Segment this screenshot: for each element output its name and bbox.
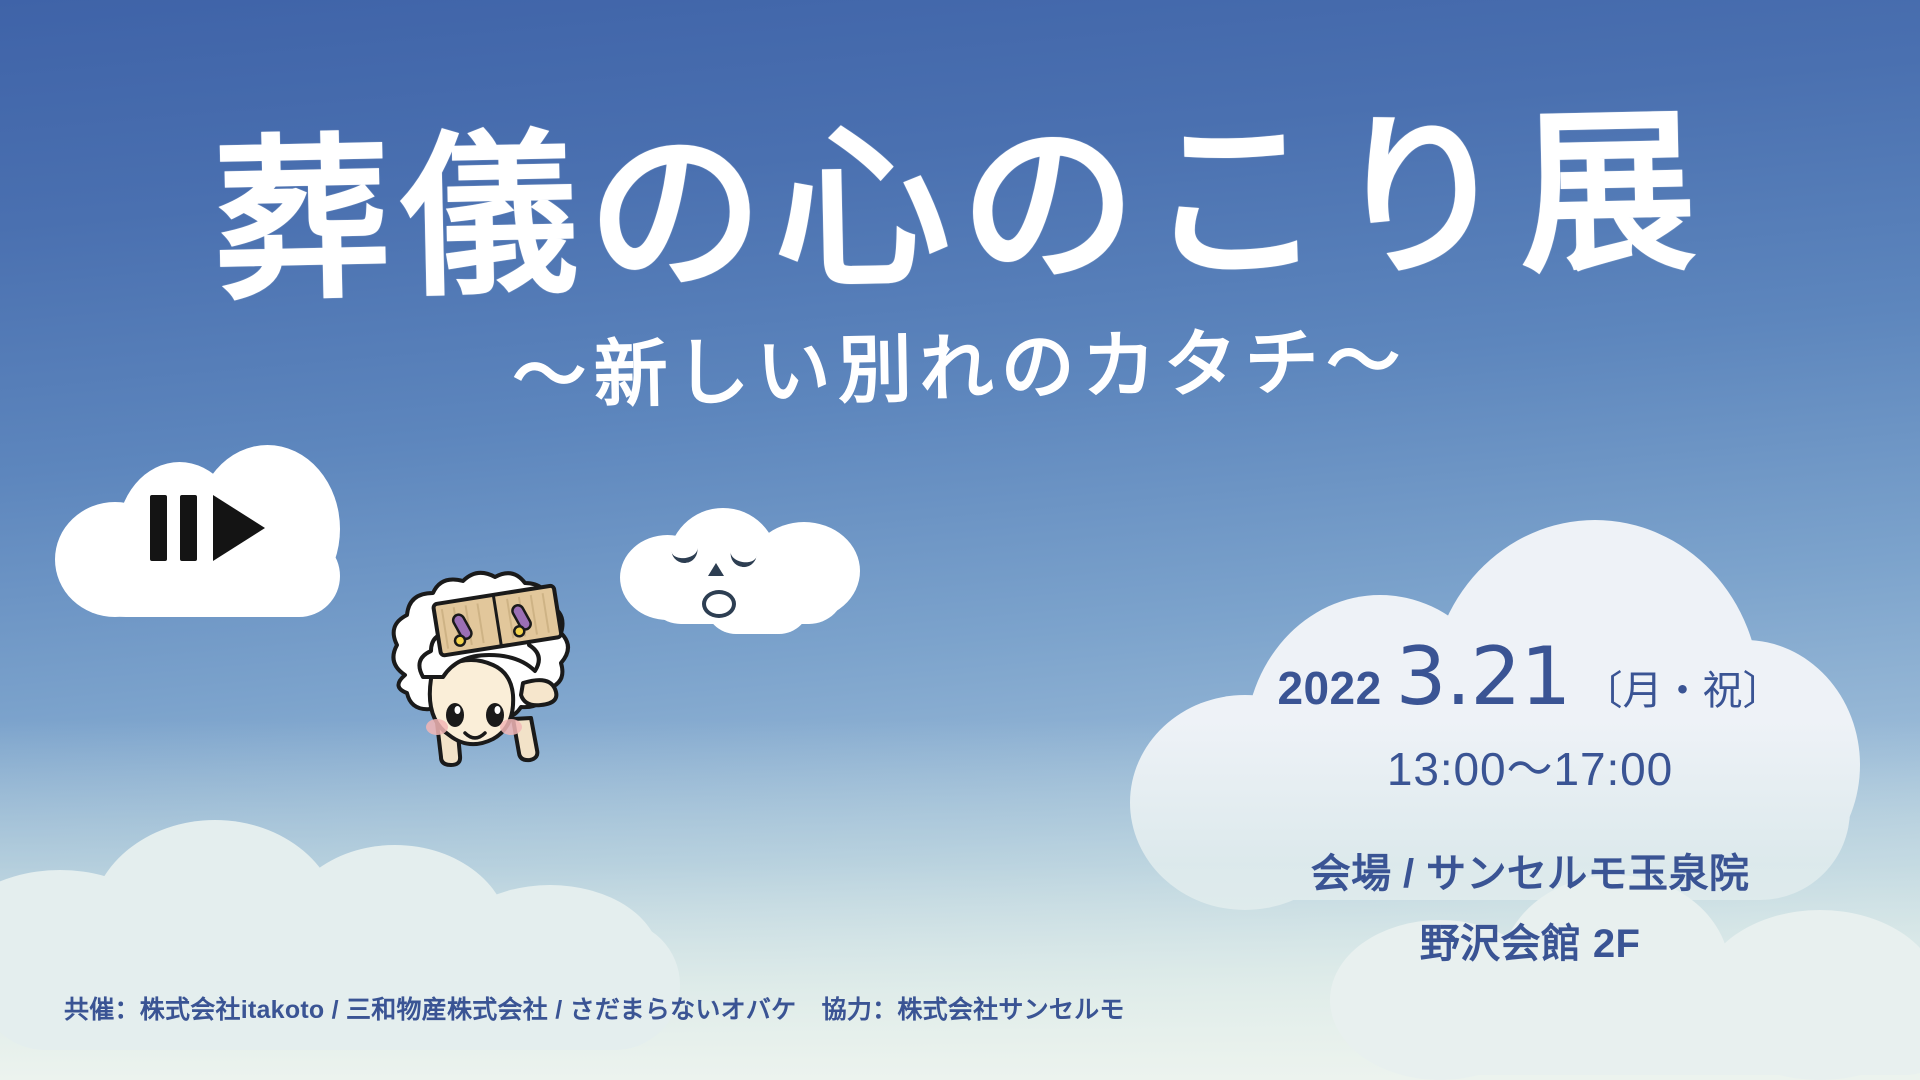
poster-canvas: 葬儀の心のこり展 〜新しい別れのカタチ〜 <box>0 0 1920 1080</box>
event-info-panel: 2022 3.21 〔月・祝〕 13:00〜17:00 会場 / サンセルモ玉泉… <box>1250 630 1810 969</box>
event-time-range: 13:00〜17:00 <box>1250 733 1810 799</box>
page-subtitle: 〜新しい別れのカタチ〜 <box>0 315 1920 422</box>
credits-line: 共催：株式会社itakoto / 三和物産株式会社 / さだまらないオバケ 協力… <box>64 990 1125 1026</box>
event-month-day: 3.21 <box>1396 630 1571 723</box>
ghost-mouth <box>702 590 736 618</box>
event-year: 2022 <box>1277 661 1381 715</box>
sheep-character-icon <box>345 555 605 785</box>
play-pause-icon[interactable] <box>150 495 270 561</box>
event-date-row: 2022 3.21 〔月・祝〕 <box>1250 630 1810 723</box>
cloud-bottom-left <box>0 790 700 1020</box>
play-icon-triangle <box>213 495 265 561</box>
event-venue-line-2: 野沢会館 2F <box>1250 911 1810 969</box>
page-title: 葬儀の心のこり展 <box>212 104 1708 311</box>
play-icon-bar-2 <box>180 495 197 561</box>
event-venue-line-1: 会場 / サンセルモ玉泉院 <box>1250 841 1810 899</box>
event-day-of-week: 〔月・祝〕 <box>1583 658 1783 716</box>
title-block: 葬儀の心のこり展 〜新しい別れのカタチ〜 <box>0 120 1920 406</box>
play-icon-bar-1 <box>150 495 167 561</box>
ghost-nose <box>708 563 724 576</box>
